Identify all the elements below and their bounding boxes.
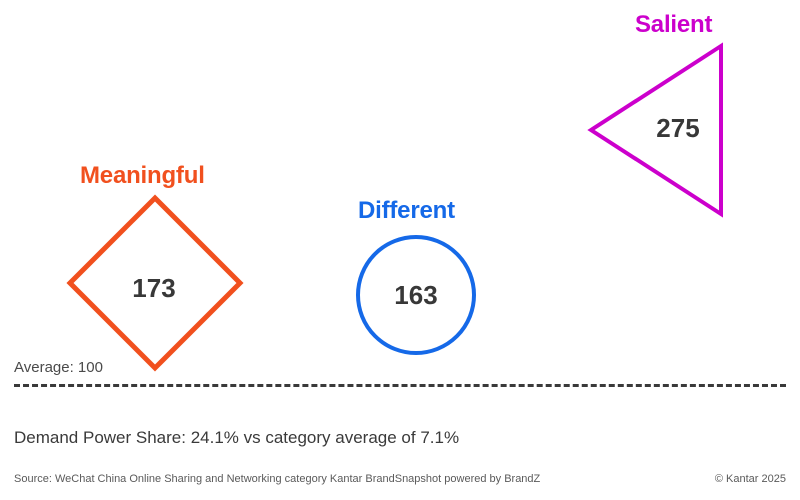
headline-text: Demand Power Share: 24.1% vs category av… — [14, 428, 459, 448]
baseline-dashed-line — [14, 384, 786, 387]
baseline-label: Average: 100 — [14, 360, 103, 375]
metric-label-different: Different — [358, 199, 455, 223]
source-note: Source: WeChat China Online Sharing and … — [14, 473, 540, 486]
metric-value-different: 163 — [394, 282, 437, 308]
brand-power-infographic: Meaningful 173 Different 163 Salient 275… — [0, 0, 800, 500]
copyright-note: © Kantar 2025 — [715, 473, 786, 486]
metric-label-meaningful: Meaningful — [80, 164, 205, 188]
metric-value-salient: 275 — [656, 115, 699, 141]
metric-value-meaningful: 173 — [132, 275, 175, 301]
metric-label-salient: Salient — [635, 13, 712, 37]
